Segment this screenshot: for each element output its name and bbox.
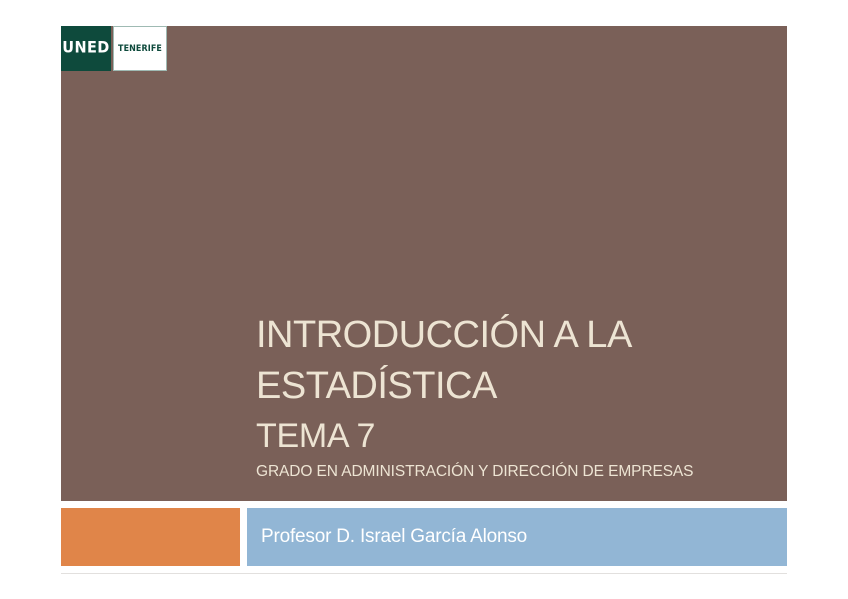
- author-bar: Profesor D. Israel García Alonso: [247, 508, 787, 566]
- slide-topic-number: TEMA 7: [256, 412, 776, 458]
- tenerife-logo-mark: TENERIFE: [113, 26, 167, 71]
- institution-logo: UNED TENERIFE: [61, 26, 167, 71]
- accent-color-block: [61, 508, 240, 566]
- slide-degree-subtitle: GRADO EN ADMINISTRACIÓN Y DIRECCIÓN DE E…: [256, 458, 776, 482]
- slide-bottom-divider: [61, 573, 787, 574]
- tenerife-logo-label: TENERIFE: [118, 44, 162, 53]
- uned-logo-mark: UNED: [61, 26, 111, 71]
- title-block: INTRODUCCIÓN A LA ESTADÍSTICA TEMA 7 GRA…: [256, 310, 776, 482]
- author-name: Profesor D. Israel García Alonso: [247, 526, 527, 548]
- slide-canvas: UNED TENERIFE INTRODUCCIÓN A LA ESTADÍST…: [0, 0, 848, 599]
- uned-logo-label: UNED: [62, 40, 109, 56]
- slide-title: INTRODUCCIÓN A LA ESTADÍSTICA: [256, 310, 776, 412]
